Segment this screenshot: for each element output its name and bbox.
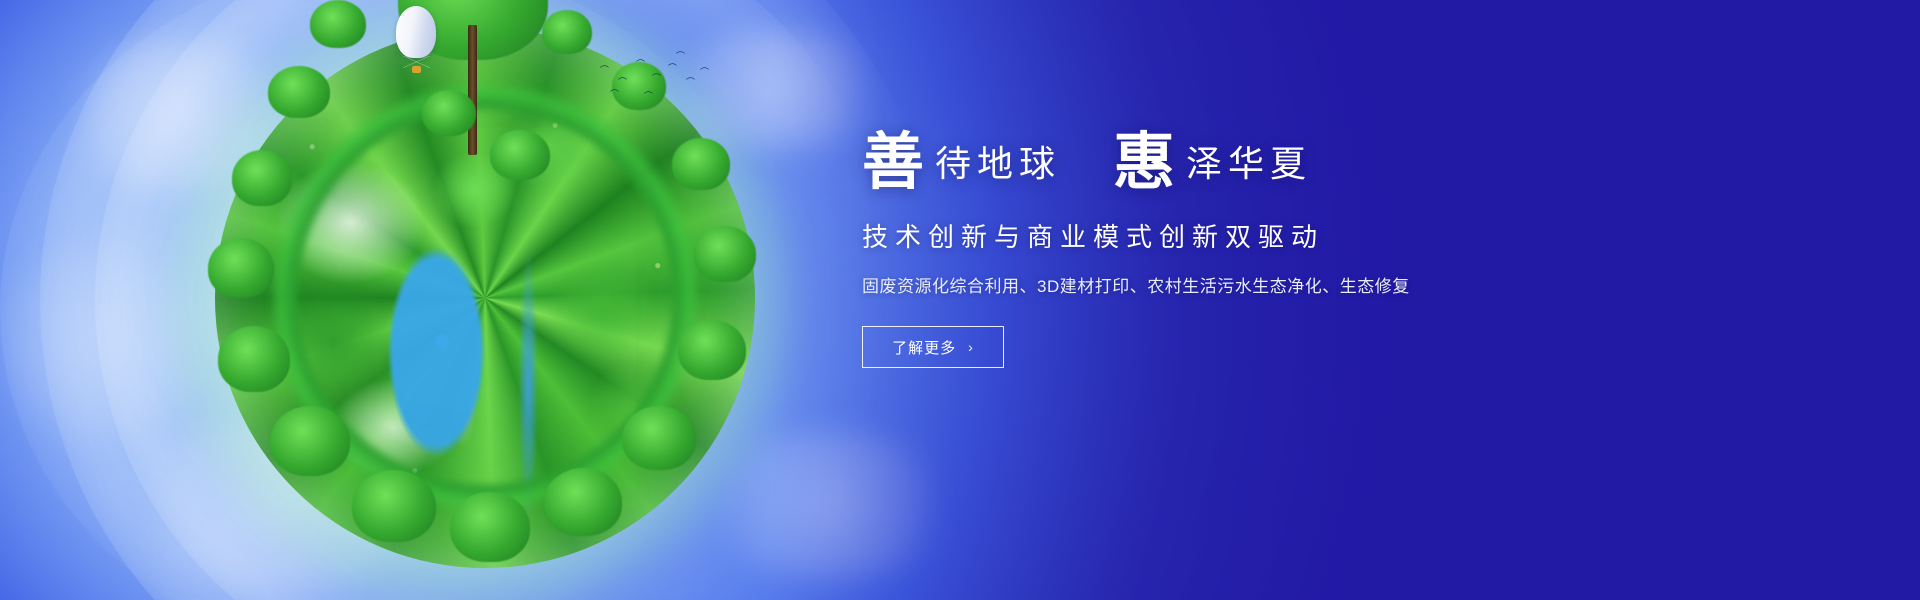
bird-icon: ︵ (686, 72, 695, 81)
tree-icon (270, 406, 350, 476)
tree-icon (490, 130, 550, 180)
bird-icon: ︵ (636, 54, 645, 63)
bird-icon: ︵ (618, 72, 627, 81)
tree-icon (310, 0, 366, 48)
headline-part1-small: 待地球 (925, 140, 1061, 194)
tree-trunk (468, 25, 477, 155)
tree-icon (268, 66, 330, 118)
tree-icon (622, 406, 696, 470)
headline-part2-small: 泽华夏 (1176, 140, 1312, 194)
hero-description: 固废资源化综合利用、3D建材打印、农村生活污水生态净化、生态修复 (862, 274, 1822, 300)
bird-icon: ︵ (610, 84, 619, 93)
tree-icon (232, 150, 292, 206)
balloon-basket (412, 66, 421, 73)
learn-more-button[interactable]: 了解更多 › (862, 326, 1004, 368)
bird-icon: ︵ (652, 68, 661, 77)
tree-icon (542, 10, 592, 54)
tiny-planet-earth (160, 0, 840, 600)
learn-more-label: 了解更多 (892, 337, 956, 358)
hero-content: 善 待地球 惠 泽华夏 技术创新与商业模式创新双驱动 固废资源化综合利用、3D建… (862, 130, 1822, 368)
hero-banner: ︵ ︵ ︵ ︵ ︵ ︵ ︵ ︵ ︵ ︵ 善 待地球 惠 泽华夏 技术创新与商业模… (0, 0, 1920, 600)
bird-icon: ︵ (668, 58, 677, 67)
tree-icon (678, 320, 746, 380)
chevron-right-icon: › (968, 339, 974, 355)
hot-air-balloon-icon (396, 6, 436, 58)
bird-icon: ︵ (644, 86, 653, 95)
tree-icon (694, 226, 756, 282)
bird-icon: ︵ (676, 46, 685, 55)
bird-icon: ︵ (600, 60, 609, 69)
tree-icon (218, 326, 290, 392)
hero-subtitle: 技术创新与商业模式创新双驱动 (862, 220, 1822, 254)
tree-icon (208, 238, 274, 298)
tree-icon (422, 90, 476, 136)
tree-icon (450, 492, 530, 562)
tree-icon (672, 138, 730, 190)
page-title: 善 待地球 惠 泽华夏 (862, 130, 1822, 194)
tree-icon (544, 468, 622, 536)
tree-icon (352, 470, 436, 542)
headline-part1-big: 善 (862, 130, 925, 194)
bird-icon: ︵ (700, 62, 709, 71)
headline-part2-big: 惠 (1113, 130, 1176, 194)
